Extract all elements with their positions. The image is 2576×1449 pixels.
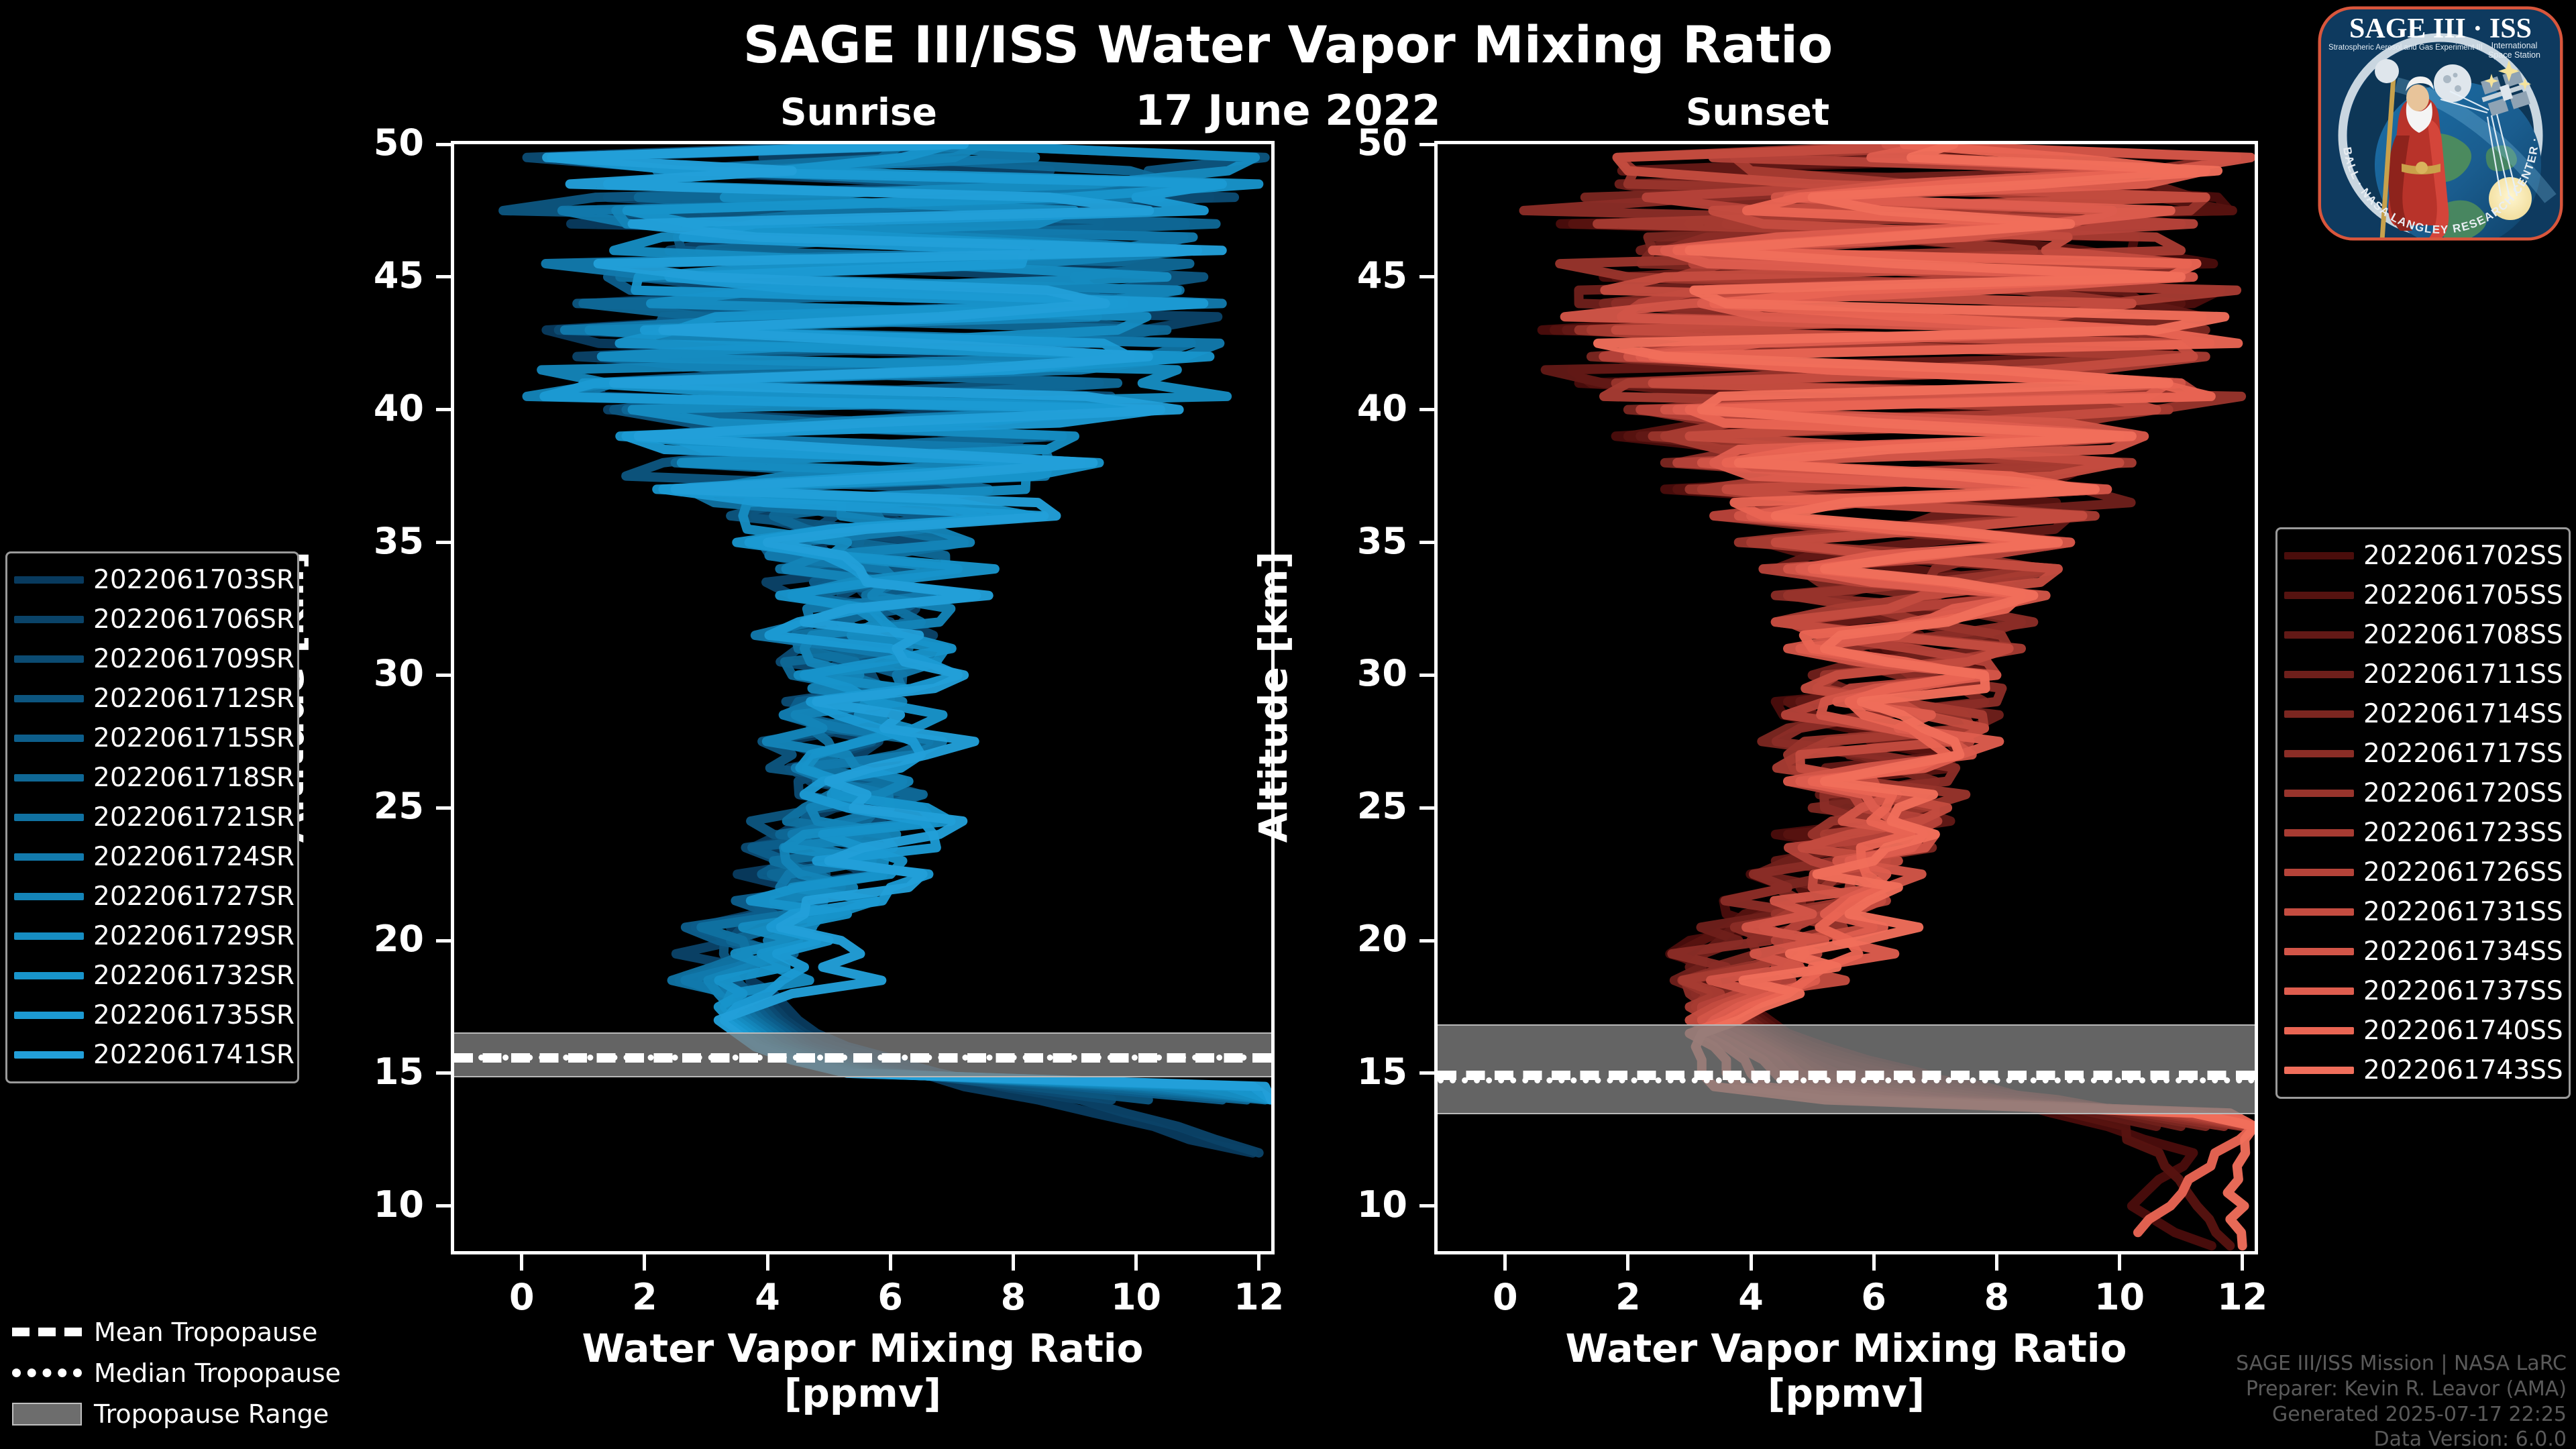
x-tick-mark: [520, 1254, 523, 1271]
y-tick-mark: [1419, 806, 1434, 810]
legend-item[interactable]: 2022061731SS: [2284, 892, 2559, 932]
credit-line: Generated 2025-07-17 22:25: [2057, 1402, 2567, 1428]
y-tick-mark: [1419, 143, 1434, 146]
legend-color-swatch: [2284, 631, 2354, 639]
credit-line: SAGE III/ISS Mission | NASA LaRC: [2057, 1351, 2567, 1377]
legend-item[interactable]: 2022061723SS: [2284, 813, 2559, 853]
legend-item[interactable]: 2022061705SS: [2284, 576, 2559, 615]
legend-item-label: 2022061724SR: [93, 842, 294, 872]
legend-item-label: 2022061714SS: [2363, 699, 2563, 729]
legend-item[interactable]: 2022061709SR: [14, 639, 288, 679]
y-tick-mark: [436, 674, 451, 677]
legend-item-label: 2022061723SS: [2363, 818, 2563, 848]
y-tick-label: 45: [1280, 254, 1407, 297]
legend-item-label: 2022061727SR: [93, 881, 294, 912]
legend-item-label: 2022061729SR: [93, 921, 294, 951]
y-tick-mark: [1419, 939, 1434, 943]
legend-color-swatch: [14, 972, 84, 979]
series-layer-sunrise: [454, 144, 1271, 1251]
x-tick-mark: [1134, 1254, 1138, 1271]
x-tick-label: 0: [462, 1276, 582, 1318]
legend-color-swatch: [2284, 710, 2354, 718]
tropopause-range-band-sunset: [1438, 1024, 2255, 1115]
x-tick-label: 6: [830, 1276, 951, 1318]
y-tick-mark: [1419, 1071, 1434, 1075]
x-tick-mark: [1626, 1254, 1629, 1271]
legend-item-label: 2022061740SS: [2363, 1016, 2563, 1046]
x-tick-label: 6: [1813, 1276, 1934, 1318]
legend-item-label: 2022061743SS: [2363, 1055, 2563, 1085]
panel-title-sunrise: Sunrise: [671, 91, 1046, 133]
legend-color-swatch: [14, 932, 84, 940]
y-tick-label: 20: [1280, 918, 1407, 960]
legend-item-label: 2022061702SS: [2363, 541, 2563, 571]
legend-item-label: 2022061718SR: [93, 763, 294, 793]
legend-item-label: Tropopause Range: [94, 1399, 329, 1429]
legend-item-label: Mean Tropopause: [94, 1318, 317, 1347]
legend-item[interactable]: 2022061717SS: [2284, 734, 2559, 773]
x-axis-unit: [ppmv]: [390, 1372, 1335, 1415]
x-tick-mark: [1995, 1254, 1998, 1271]
y-tick-label: 10: [297, 1183, 424, 1226]
y-tick-label: 50: [297, 121, 424, 164]
legend-item-label: 2022061715SR: [93, 723, 294, 753]
y-tick-mark: [1419, 674, 1434, 677]
legend-item-label: 2022061741SR: [93, 1040, 294, 1070]
y-tick-mark: [436, 806, 451, 810]
legend-item[interactable]: 2022061715SR: [14, 718, 288, 758]
legend-item[interactable]: 2022061740SS: [2284, 1011, 2559, 1051]
legend-item[interactable]: 2022061735SR: [14, 996, 288, 1035]
y-tick-label: 40: [297, 387, 424, 429]
median-tropopause-line-sunset: [1438, 1077, 2255, 1083]
legend-item-label: 2022061703SR: [93, 565, 294, 595]
y-tick-label: 30: [297, 652, 424, 694]
y-tick-label: 20: [297, 918, 424, 960]
legend-color-swatch: [14, 695, 84, 702]
x-tick-label: 8: [1936, 1276, 2057, 1318]
y-tick-mark: [436, 1071, 451, 1075]
legend-item[interactable]: 2022061712SR: [14, 679, 288, 718]
x-tick-label: 2: [1568, 1276, 1688, 1318]
legend-color-swatch: [14, 853, 84, 861]
y-tick-label: 40: [1280, 387, 1407, 429]
legend-color-swatch: [2284, 987, 2354, 995]
legend-item[interactable]: 2022061729SR: [14, 916, 288, 956]
legend-item[interactable]: 2022061724SR: [14, 837, 288, 877]
legend-color-swatch: [2284, 750, 2354, 757]
legend-item-label: 2022061734SS: [2363, 936, 2563, 967]
credit-line: Preparer: Kevin R. Leavor (AMA): [2057, 1377, 2567, 1402]
x-tick-label: 10: [2059, 1276, 2180, 1318]
legend-item[interactable]: 2022061727SR: [14, 877, 288, 916]
x-tick-label: 0: [1445, 1276, 1566, 1318]
y-tick-mark: [1419, 275, 1434, 278]
legend-color-swatch: [14, 893, 84, 900]
legend-item-label: 2022061709SR: [93, 644, 294, 674]
legend-item[interactable]: 2022061718SR: [14, 758, 288, 798]
legend-item[interactable]: 2022061720SS: [2284, 773, 2559, 813]
plot-area-sunset: [1434, 141, 2258, 1254]
legend-line-swatch: [12, 1328, 82, 1336]
legend-color-swatch: [14, 616, 84, 623]
legend-item-label: 2022061705SS: [2363, 580, 2563, 610]
legend-item-label: 2022061717SS: [2363, 739, 2563, 769]
legend-color-swatch: [2284, 908, 2354, 916]
x-tick-mark: [1872, 1254, 1876, 1271]
panel-title-sunset: Sunset: [1570, 91, 1945, 133]
legend-color-swatch: [14, 735, 84, 742]
y-tick-label: 50: [1280, 121, 1407, 164]
legend-item-label: 2022061731SS: [2363, 897, 2563, 927]
x-tick-label: 4: [707, 1276, 828, 1318]
y-tick-label: 45: [297, 254, 424, 297]
legend-item[interactable]: 2022061702SS: [2284, 536, 2559, 576]
legend-item-label: Median Tropopause: [94, 1358, 341, 1388]
x-tick-label: 10: [1076, 1276, 1197, 1318]
legend-sunrise: 2022061703SR2022061706SR2022061709SR2022…: [5, 551, 299, 1083]
credits-block: SAGE III/ISS Mission | NASA LaRCPreparer…: [2057, 1351, 2567, 1449]
median-tropopause-line-sunrise: [454, 1055, 1271, 1061]
y-tick-mark: [436, 408, 451, 411]
legend-color-swatch: [2284, 1027, 2354, 1034]
legend-item[interactable]: 2022061737SS: [2284, 971, 2559, 1011]
legend-item[interactable]: Median Tropopause: [12, 1352, 388, 1393]
x-tick-mark: [1503, 1254, 1507, 1271]
logo-subtitle-right-line2: Space Station: [2488, 50, 2540, 60]
legend-color-swatch: [2284, 869, 2354, 876]
legend-color-swatch: [14, 655, 84, 663]
legend-item[interactable]: Tropopause Range: [12, 1393, 388, 1434]
sage-iii-iss-mission-patch-logo: BALL · NASA LANGLEY RESEARCH CENTER · TA…: [2316, 4, 2565, 262]
y-tick-mark: [1419, 1204, 1434, 1207]
plot-area-sunrise: [451, 141, 1275, 1254]
y-tick-mark: [436, 541, 451, 544]
legend-line-swatch: [12, 1368, 82, 1377]
logo-svg: BALL · NASA LANGLEY RESEARCH CENTER · TA…: [2316, 4, 2565, 262]
y-tick-label: 10: [1280, 1183, 1407, 1226]
legend-color-swatch: [2284, 671, 2354, 678]
y-axis-title: Altitude [km]: [1250, 482, 1296, 912]
y-tick-label: 15: [297, 1051, 424, 1093]
x-tick-label: 2: [584, 1276, 705, 1318]
legend-color-swatch: [14, 814, 84, 821]
y-tick-mark: [436, 1204, 451, 1207]
legend-item[interactable]: 2022061734SS: [2284, 932, 2559, 971]
legend-band-swatch: [12, 1403, 82, 1426]
legend-color-swatch: [2284, 948, 2354, 955]
legend-item-label: 2022061735SR: [93, 1000, 294, 1030]
legend-item-label: 2022061708SS: [2363, 620, 2563, 650]
y-tick-label: 35: [1280, 520, 1407, 562]
y-tick-mark: [1419, 408, 1434, 411]
legend-item[interactable]: Mean Tropopause: [12, 1311, 388, 1352]
legend-item[interactable]: 2022061703SR: [14, 560, 288, 600]
x-tick-label: 4: [1690, 1276, 1811, 1318]
y-tick-mark: [1419, 541, 1434, 544]
legend-color-swatch: [2284, 1067, 2354, 1074]
legend-item[interactable]: 2022061721SR: [14, 798, 288, 837]
y-tick-mark: [436, 143, 451, 146]
legend-item[interactable]: 2022061726SS: [2284, 853, 2559, 892]
legend-color-swatch: [14, 774, 84, 782]
legend-item[interactable]: 2022061711SS: [2284, 655, 2559, 694]
legend-item-label: 2022061711SS: [2363, 659, 2563, 690]
x-axis-title: Water Vapor Mixing Ratio: [390, 1327, 1335, 1371]
legend-item-label: 2022061737SS: [2363, 976, 2563, 1006]
legend-color-swatch: [2284, 829, 2354, 837]
x-tick-mark: [643, 1254, 646, 1271]
logo-title: SAGE III · ISS: [2349, 13, 2532, 44]
x-tick-mark: [1257, 1254, 1260, 1271]
legend-color-swatch: [2284, 790, 2354, 797]
y-tick-label: 25: [1280, 785, 1407, 827]
x-tick-mark: [889, 1254, 892, 1271]
x-tick-label: 8: [953, 1276, 1073, 1318]
x-tick-mark: [2118, 1254, 2121, 1271]
legend-item[interactable]: 2022061732SR: [14, 956, 288, 996]
legend-color-swatch: [2284, 592, 2354, 599]
x-tick-label: 12: [1199, 1276, 1320, 1318]
legend-item[interactable]: 2022061743SS: [2284, 1051, 2559, 1090]
legend-item-label: 2022061706SR: [93, 604, 294, 635]
legend-color-swatch: [14, 576, 84, 584]
y-tick-label: 30: [1280, 652, 1407, 694]
x-tick-label: 12: [2182, 1276, 2303, 1318]
legend-color-swatch: [14, 1012, 84, 1019]
y-tick-label: 25: [297, 785, 424, 827]
logo-subtitle-left: Stratospheric Aerosol and Gas Experiment…: [2328, 44, 2483, 52]
page-title: SAGE III/ISS Water Vapor Mixing Ratio: [0, 15, 2576, 74]
legend-item-label: 2022061712SR: [93, 684, 294, 714]
legend-color-swatch: [14, 1051, 84, 1059]
y-tick-mark: [436, 939, 451, 943]
legend-tropopause: Mean TropopauseMedian TropopauseTropopau…: [12, 1311, 388, 1434]
legend-item[interactable]: 2022061706SR: [14, 600, 288, 639]
x-tick-mark: [2241, 1254, 2244, 1271]
legend-item-label: 2022061720SS: [2363, 778, 2563, 808]
legend-item[interactable]: 2022061741SR: [14, 1035, 288, 1075]
legend-item-label: 2022061726SS: [2363, 857, 2563, 888]
profile-lines: [454, 144, 1271, 1251]
logo-subtitle-right-line1: International: [2491, 41, 2538, 50]
x-tick-mark: [1750, 1254, 1753, 1271]
x-tick-mark: [1012, 1254, 1015, 1271]
legend-item[interactable]: 2022061708SS: [2284, 615, 2559, 655]
y-tick-label: 15: [1280, 1051, 1407, 1093]
legend-item[interactable]: 2022061714SS: [2284, 694, 2559, 734]
legend-sunset: 2022061702SS2022061705SS2022061708SS2022…: [2275, 527, 2571, 1099]
y-tick-mark: [436, 275, 451, 278]
legend-item-label: 2022061732SR: [93, 961, 294, 991]
y-tick-label: 35: [297, 520, 424, 562]
figure-root: SAGE III/ISS Water Vapor Mixing Ratio 17…: [0, 0, 2576, 1449]
legend-item-label: 2022061721SR: [93, 802, 294, 833]
legend-color-swatch: [2284, 552, 2354, 559]
x-tick-mark: [766, 1254, 769, 1271]
credit-line: Data Version: 6.0.0: [2057, 1427, 2567, 1449]
